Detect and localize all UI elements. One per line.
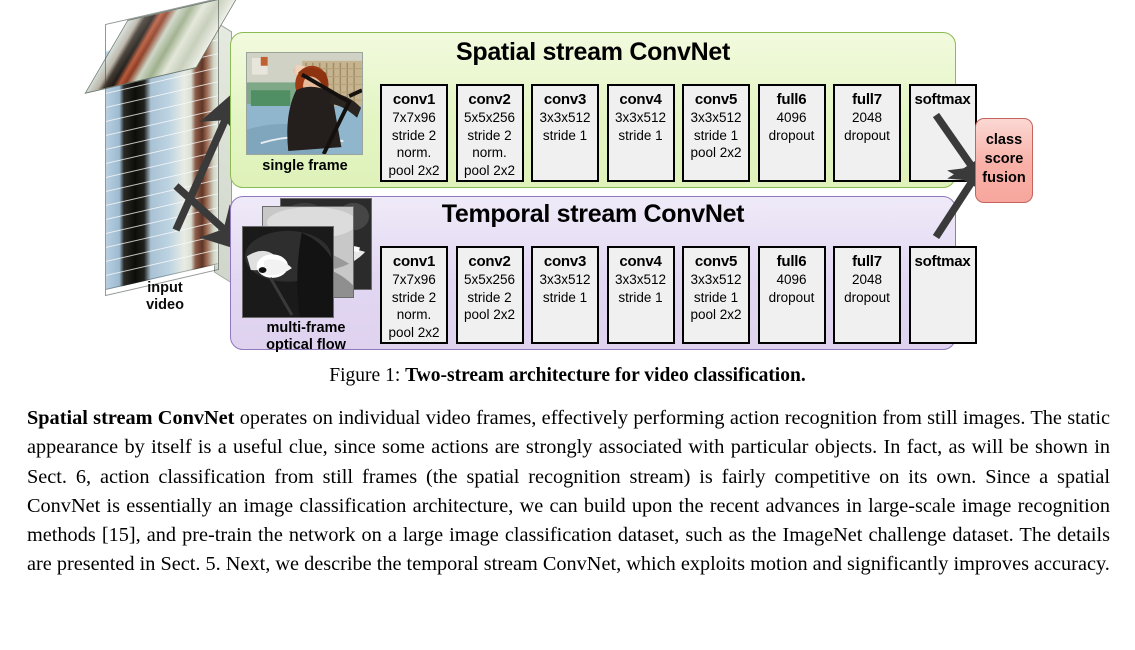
layer-name: conv2	[458, 252, 522, 271]
layer-detail-line: dropout	[760, 127, 824, 145]
layer-detail-line: dropout	[760, 289, 824, 307]
body-paragraph-text: operates on individual video frames, eff…	[27, 407, 1110, 575]
spatial-layer-conv3: conv33x3x512stride 1	[531, 84, 599, 182]
layer-detail-line: norm.	[382, 306, 446, 324]
layer-detail-line: stride 1	[533, 127, 597, 145]
spatial-layer-full7: full72048dropout	[833, 84, 901, 182]
layer-name: conv3	[533, 252, 597, 271]
temporal-layer-softmax: softmax	[909, 246, 977, 344]
layer-name: full7	[835, 252, 899, 271]
layer-detail-line: stride 2	[458, 127, 522, 145]
layer-detail-line: stride 1	[684, 127, 748, 145]
figure-caption-text: Two-stream architecture for video classi…	[405, 365, 806, 386]
layer-detail-line: stride 1	[533, 289, 597, 307]
layer-detail-line: 3x3x512	[533, 109, 597, 127]
layer-detail-line: dropout	[835, 127, 899, 145]
temporal-layer-conv4: conv43x3x512stride 1	[607, 246, 675, 344]
temporal-layer-conv2: conv25x5x256stride 2pool 2x2	[456, 246, 524, 344]
figure-caption-label: Figure 1:	[329, 365, 405, 386]
layer-detail-line: pool 2x2	[382, 162, 446, 180]
layer-name: conv2	[458, 90, 522, 109]
single-frame-thumbnail	[246, 52, 363, 155]
body-paragraph: Spatial stream ConvNet operates on indiv…	[27, 404, 1110, 580]
spatial-layer-conv1: conv17x7x96stride 2norm.pool 2x2	[380, 84, 448, 182]
layer-name: conv5	[684, 252, 748, 271]
layer-name: conv3	[533, 90, 597, 109]
layer-detail-line: pool 2x2	[458, 162, 522, 180]
spatial-layer-full6: full64096dropout	[758, 84, 826, 182]
layer-name: full7	[835, 90, 899, 109]
layer-detail-line: 5x5x256	[458, 271, 522, 289]
layer-detail-line: 7x7x96	[382, 109, 446, 127]
layer-detail-line: 5x5x256	[458, 109, 522, 127]
figure-caption: Figure 1: Two-stream architecture for vi…	[0, 364, 1135, 388]
layer-detail-line: pool 2x2	[382, 324, 446, 342]
layer-detail-line: pool 2x2	[684, 306, 748, 324]
figure-1-diagram: input video Spatial stream ConvNet	[0, 0, 1135, 360]
layer-detail-line: pool 2x2	[458, 306, 522, 324]
layer-detail-line: stride 1	[609, 289, 673, 307]
layer-name: full6	[760, 252, 824, 271]
input-video-label-line2: video	[146, 297, 184, 313]
temporal-layer-conv1: conv17x7x96stride 2norm.pool 2x2	[380, 246, 448, 344]
layer-detail-line: norm.	[458, 144, 522, 162]
layer-detail-line: 3x3x512	[684, 109, 748, 127]
layer-name: conv1	[382, 90, 446, 109]
fusion-line-1: class	[976, 131, 1032, 150]
optical-flow-thumbnail-stack	[242, 198, 377, 320]
layer-name: conv4	[609, 90, 673, 109]
layer-detail-line: dropout	[835, 289, 899, 307]
temporal-layer-full7: full72048dropout	[833, 246, 901, 344]
optical-flow-frame-1	[242, 226, 334, 318]
layer-detail-line: 2048	[835, 109, 899, 127]
optical-flow-caption: multi-frame optical flow	[230, 320, 382, 354]
layer-detail-line: 7x7x96	[382, 271, 446, 289]
layer-name: conv4	[609, 252, 673, 271]
fusion-line-2: score	[976, 150, 1032, 169]
layer-detail-line: 2048	[835, 271, 899, 289]
spatial-layer-conv5: conv53x3x512stride 1pool 2x2	[682, 84, 750, 182]
layer-detail-line: stride 2	[458, 289, 522, 307]
temporal-layer-conv5: conv53x3x512stride 1pool 2x2	[682, 246, 750, 344]
spatial-layer-conv2: conv25x5x256stride 2norm.pool 2x2	[456, 84, 524, 182]
layer-name: conv5	[684, 90, 748, 109]
class-score-fusion-box: class score fusion	[975, 118, 1033, 203]
temporal-layer-conv3: conv33x3x512stride 1	[531, 246, 599, 344]
layer-name: softmax	[911, 252, 975, 271]
spatial-layer-conv4: conv43x3x512stride 1	[607, 84, 675, 182]
layer-detail-line: pool 2x2	[684, 144, 748, 162]
layer-detail-line: 3x3x512	[609, 271, 673, 289]
fusion-line-3: fusion	[976, 169, 1032, 188]
layer-name: conv1	[382, 252, 446, 271]
optical-flow-caption-line1: multi-frame	[267, 320, 346, 336]
temporal-layer-full6: full64096dropout	[758, 246, 826, 344]
layer-detail-line: 3x3x512	[609, 109, 673, 127]
layer-detail-line: stride 2	[382, 127, 446, 145]
single-frame-caption: single frame	[232, 158, 378, 175]
optical-flow-caption-line2: optical flow	[266, 337, 346, 353]
layer-detail-line: stride 2	[382, 289, 446, 307]
layer-detail-line: 4096	[760, 109, 824, 127]
layer-detail-line: 3x3x512	[533, 271, 597, 289]
layer-name: full6	[760, 90, 824, 109]
layer-detail-line: stride 1	[684, 289, 748, 307]
layer-detail-line: norm.	[382, 144, 446, 162]
layer-detail-line: stride 1	[609, 127, 673, 145]
layer-detail-line: 3x3x512	[684, 271, 748, 289]
layer-detail-line: 4096	[760, 271, 824, 289]
arrow-spatial-to-fusion	[936, 115, 975, 171]
body-lead-term: Spatial stream ConvNet	[27, 407, 234, 429]
arrow-temporal-to-fusion	[936, 177, 975, 237]
